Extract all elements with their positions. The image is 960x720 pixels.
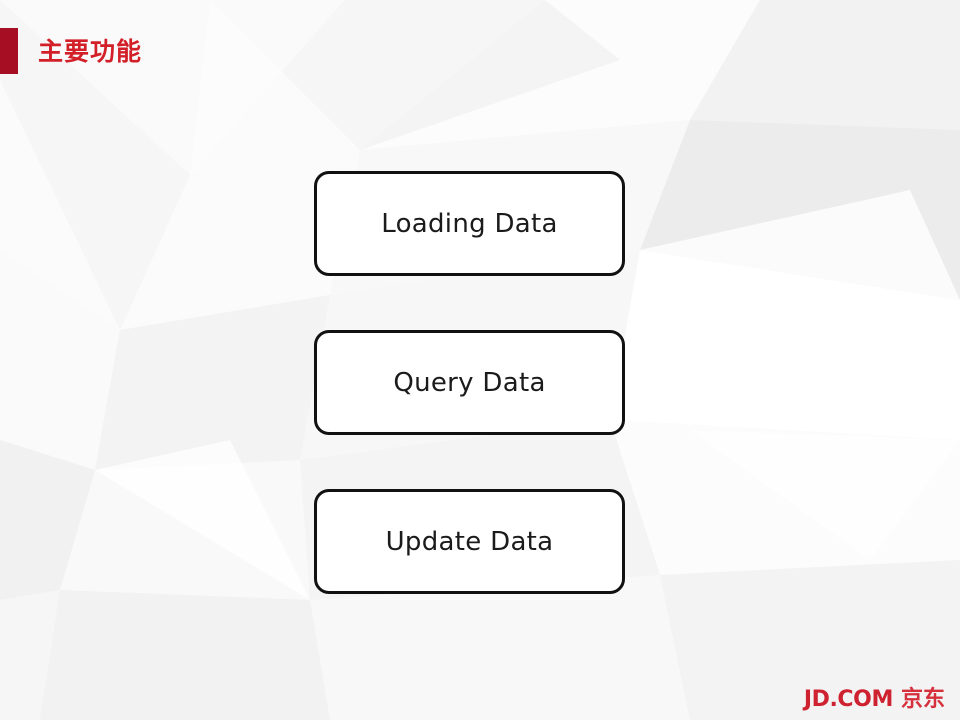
slide-canvas: 主要功能 Loading Data Query Data Update Data… — [0, 0, 960, 720]
flow-box-loading-data[interactable]: Loading Data — [314, 171, 625, 276]
jd-logo-chinese-text: 京东 — [901, 689, 945, 711]
flow-box-update-data[interactable]: Update Data — [314, 489, 625, 594]
title-accent-bar — [0, 28, 18, 74]
jd-logo: JD.COM 京东 — [804, 689, 945, 711]
page-title-block: 主要功能 — [0, 28, 142, 74]
flow-box-label: Query Data — [393, 368, 545, 398]
flow-box-query-data[interactable]: Query Data — [314, 330, 625, 435]
page-title: 主要功能 — [38, 39, 142, 64]
flow-box-label: Loading Data — [381, 209, 558, 239]
flow-box-label: Update Data — [386, 527, 554, 557]
jd-logo-latin-text: JD.COM — [804, 689, 893, 711]
